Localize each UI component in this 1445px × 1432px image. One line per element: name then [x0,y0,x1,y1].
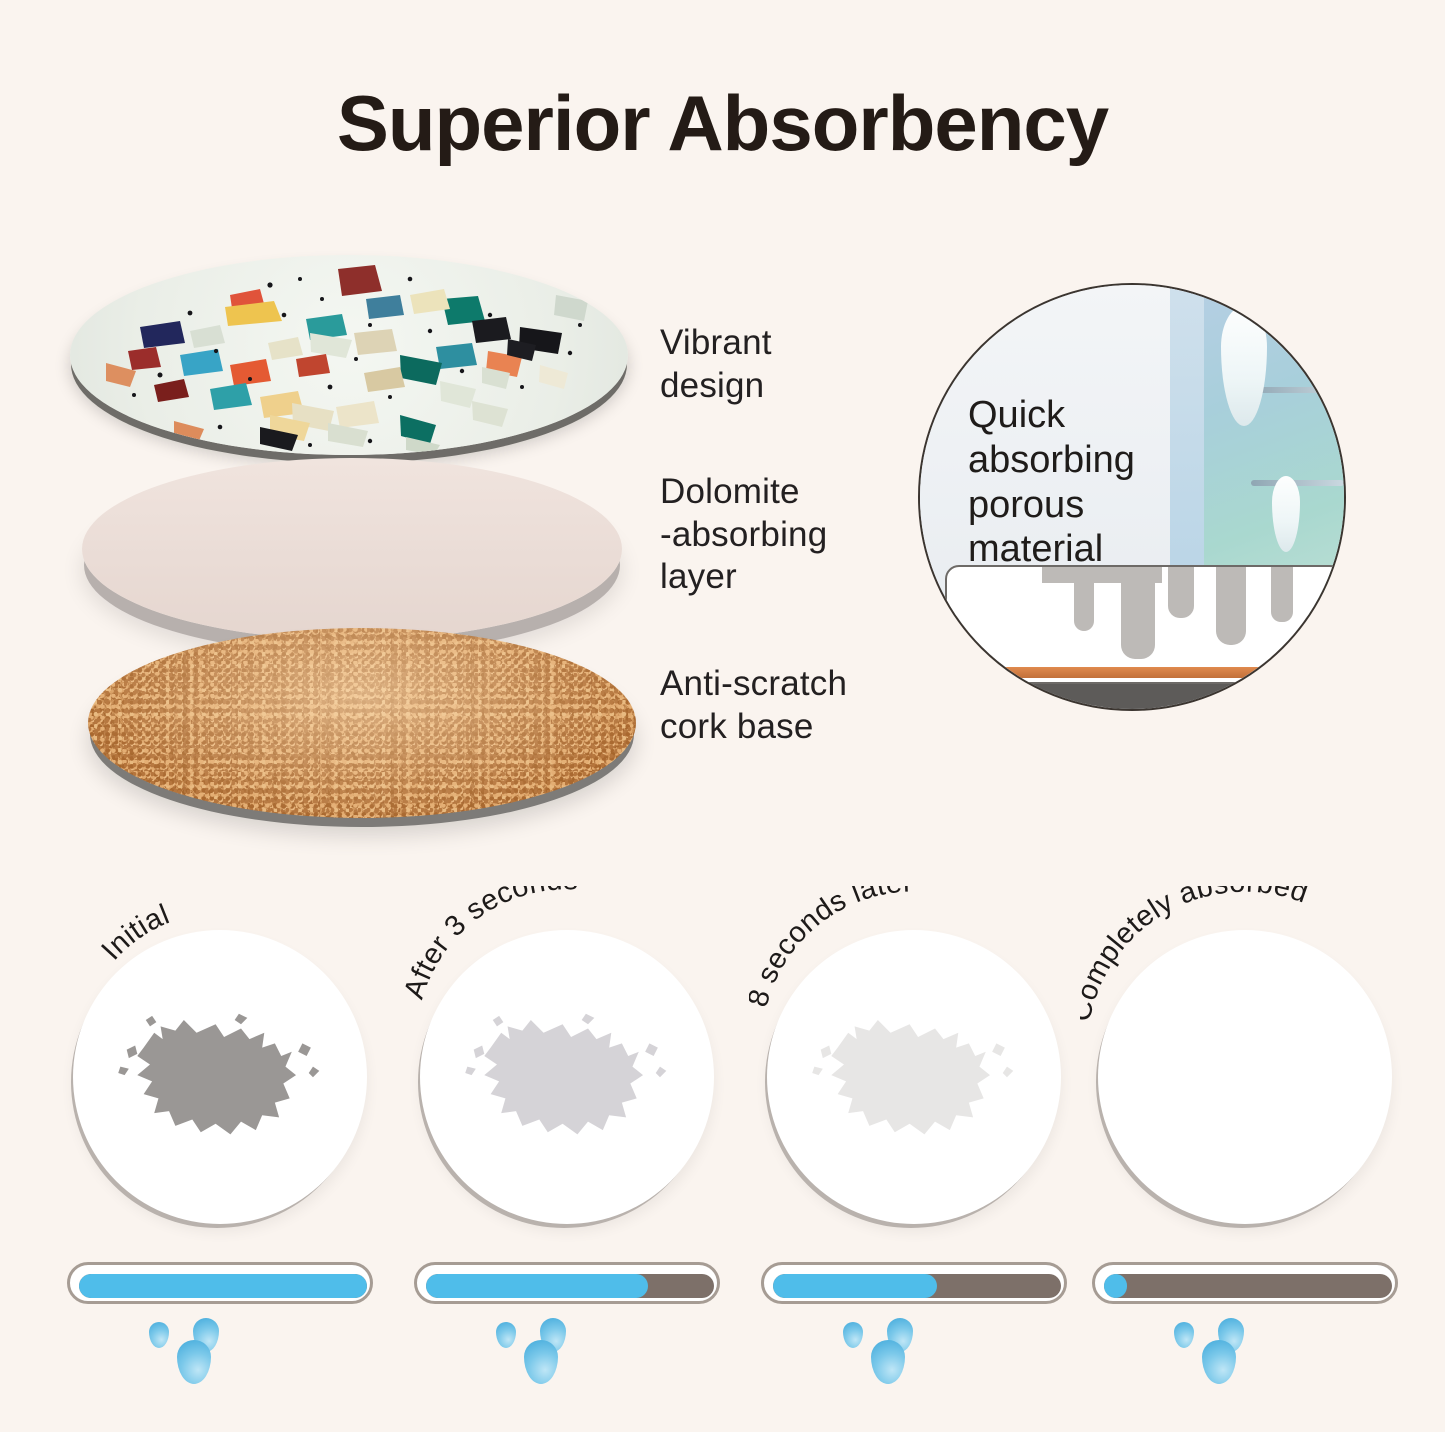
sequence-step-initial: Initial [55,930,385,1400]
coaster-layer-stack [60,240,640,810]
layer-label-vibrant-design: Vibrantdesign [660,322,772,407]
progress-bar-outer [761,1262,1067,1304]
infographic-page: Superior Absorbency [0,0,1445,1432]
callout-shelf-line-top [1251,387,1344,393]
coaster-circle [767,930,1061,1224]
progress-bar-outer [414,1262,720,1304]
sequence-step-after-3-seconds: After 3 seconds [402,930,732,1400]
layer-label-cork-base: Anti-scratchcork base [660,663,847,748]
sequence-step-8-seconds-later: 8 seconds later [749,930,1079,1400]
progress-bar-fill [773,1274,937,1298]
droplet-cluster [147,1318,237,1390]
progress-bar-outer [67,1262,373,1304]
absorption-sequence: Initial [0,930,1445,1400]
coaster-circle [1098,930,1392,1224]
callout-coaster-slab [945,565,1344,684]
absorption-progress-bar [67,1262,373,1304]
water-droplet-icon [1174,1322,1194,1348]
callout-cork-strip [979,667,1318,678]
progress-bar-fill [79,1274,367,1298]
droplet-cluster [494,1318,584,1390]
water-stain [461,1001,673,1160]
absorption-progress-bar [761,1262,1067,1304]
cork-base-layer [88,628,636,818]
water-drip [1216,565,1246,645]
water-drip [1271,565,1293,622]
water-droplet-icon [177,1340,211,1384]
coaster-circle [73,930,367,1224]
droplet-cluster [1172,1318,1262,1390]
water-droplet-icon [1202,1340,1236,1384]
progress-bar-outer [1092,1262,1398,1304]
water-droplet-icon [871,1340,905,1384]
top-terrazzo-layer [70,255,628,455]
quick-absorbing-callout: Quickabsorbingporousmaterial [918,283,1346,711]
sequence-step-completely-absorbed: Completely absorbed [1080,930,1410,1400]
callout-text: Quickabsorbingporousmaterial [968,393,1208,572]
absorption-progress-bar [1092,1262,1398,1304]
progress-bar-track [79,1274,367,1298]
water-droplet-icon [524,1340,558,1384]
droplet-cluster [841,1318,931,1390]
progress-bar-track [773,1274,1061,1298]
water-droplet-icon [149,1322,169,1348]
progress-bar-track [426,1274,714,1298]
progress-bar-fill [426,1274,648,1298]
water-stain [114,1001,326,1160]
progress-bar-track [1104,1274,1392,1298]
water-stain [808,1001,1020,1160]
coaster-circle [420,930,714,1224]
page-title: Superior Absorbency [0,78,1445,169]
terrazzo-chips [70,255,628,455]
water-droplet-icon [843,1322,863,1348]
absorption-progress-bar [414,1262,720,1304]
layer-label-dolomite: Dolomite-absorbinglayer [660,471,827,599]
callout-shelf-line-bottom [1251,480,1344,486]
progress-bar-fill [1104,1274,1127,1298]
water-drip [1168,565,1194,618]
water-droplet-icon [496,1322,516,1348]
dolomite-layer [82,458,622,640]
